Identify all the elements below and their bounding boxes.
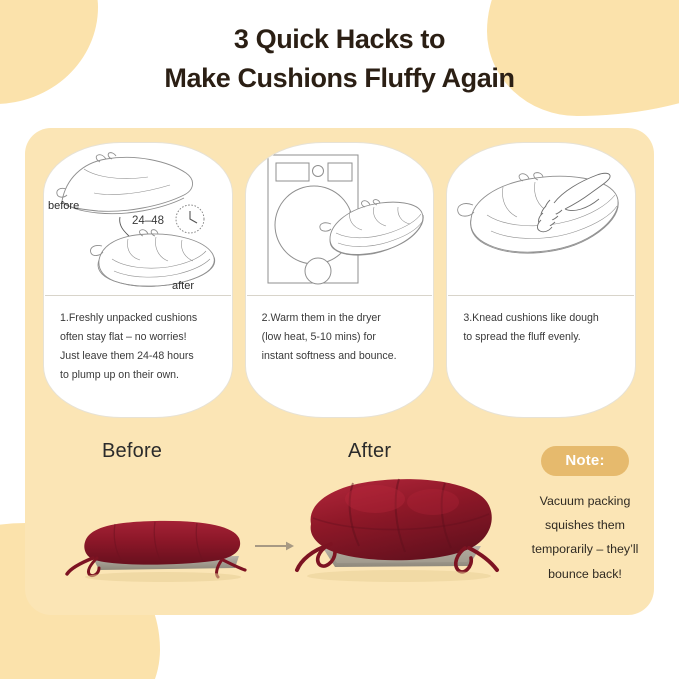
step-1-label-after: after [172, 280, 194, 292]
steps-row: before 24–48 [43, 142, 636, 418]
note-pill-label: Note: [541, 446, 628, 476]
step-1-text: 1.Freshly unpacked cushions often stay f… [44, 296, 232, 394]
step-card-2: 2.Warm them in the dryer (low heat, 5-10… [245, 142, 435, 418]
step-3-illustration [447, 143, 635, 295]
step-1-label-before: before [48, 200, 79, 212]
content-card: before 24–48 [25, 128, 654, 615]
step-2-illustration [246, 143, 434, 295]
step-card-3: 3.Knead cushions like dough to spread th… [446, 142, 636, 418]
before-label: Before [102, 440, 162, 463]
title-line-2: Make Cushions Fluffy Again [0, 59, 679, 98]
step-1-illustration: before 24–48 [44, 143, 232, 295]
note-body-text: Vacuum packing squishes them temporarily… [519, 489, 651, 586]
title-line-1: 3 Quick Hacks to [0, 20, 679, 59]
step-2-text: 2.Warm them in the dryer (low heat, 5-10… [246, 296, 434, 376]
note-block: Note: Vacuum packing squishes them tempo… [519, 446, 651, 586]
page-title: 3 Quick Hacks to Make Cushions Fluffy Ag… [0, 20, 679, 98]
before-cushion-photo [63, 498, 263, 586]
infographic-root: 3 Quick Hacks to Make Cushions Fluffy Ag… [0, 0, 679, 679]
before-after-comparison: Before After [45, 440, 515, 600]
step-1-duration-label: 24–48 [132, 215, 164, 227]
step-3-text: 3.Knead cushions like dough to spread th… [447, 296, 635, 357]
after-cushion-photo [283, 466, 515, 588]
step-card-1: before 24–48 [43, 142, 233, 418]
clock-icon [176, 205, 204, 233]
after-label: After [348, 440, 391, 463]
